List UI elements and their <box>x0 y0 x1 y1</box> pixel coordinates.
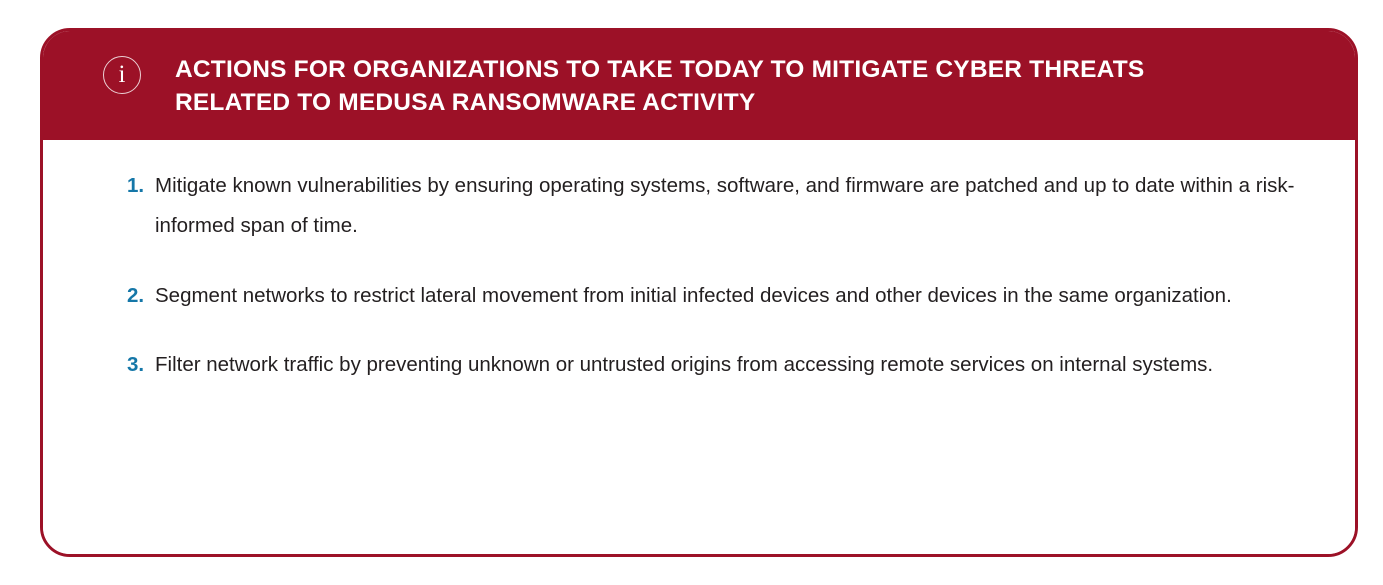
list-item-marker: 1. <box>127 166 144 207</box>
info-circle-icon: i <box>103 56 141 94</box>
list-item-marker: 3. <box>127 345 144 386</box>
callout-header: i ACTIONS FOR ORGANIZATIONS TO TAKE TODA… <box>43 31 1355 140</box>
callout-title: ACTIONS FOR ORGANIZATIONS TO TAKE TODAY … <box>175 53 1205 120</box>
list-item-text: Mitigate known vulnerabilities by ensuri… <box>155 174 1294 238</box>
info-icon-glyph: i <box>119 62 126 87</box>
action-list: 1. Mitigate known vulnerabilities by ens… <box>127 166 1307 386</box>
list-item-marker: 2. <box>127 276 144 317</box>
list-item-text: Segment networks to restrict lateral mov… <box>155 284 1232 307</box>
list-item: 3. Filter network traffic by preventing … <box>127 345 1307 386</box>
list-item: 2. Segment networks to restrict lateral … <box>127 276 1307 317</box>
list-item: 1. Mitigate known vulnerabilities by ens… <box>127 166 1307 247</box>
screenshot-root: i ACTIONS FOR ORGANIZATIONS TO TAKE TODA… <box>0 0 1383 585</box>
callout-card: i ACTIONS FOR ORGANIZATIONS TO TAKE TODA… <box>40 28 1358 557</box>
list-item-text: Filter network traffic by preventing unk… <box>155 353 1213 376</box>
callout-body: 1. Mitigate known vulnerabilities by ens… <box>43 140 1355 556</box>
